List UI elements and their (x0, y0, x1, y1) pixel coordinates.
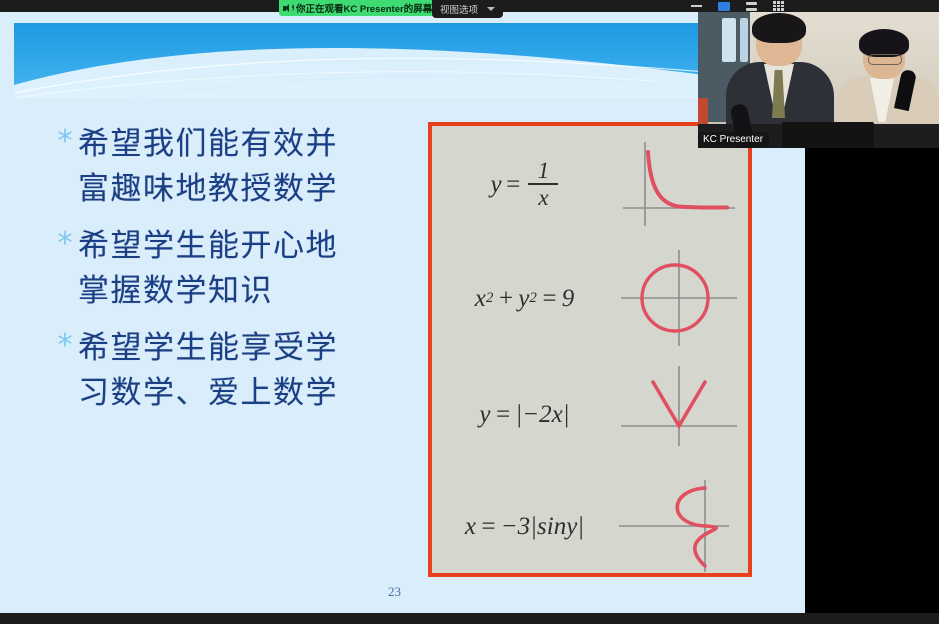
equation-relation: = (480, 514, 497, 539)
equation-exponent: 2 (486, 291, 494, 306)
equation-operator: + (497, 286, 514, 311)
split-view-icon (746, 2, 757, 11)
equation-row: x = −3|siny| (432, 476, 748, 576)
fraction-numerator: 1 (538, 159, 550, 183)
equation-row: y = 1 x (432, 134, 748, 234)
v-shape-graph (617, 364, 742, 464)
equation-lhs: x (465, 514, 476, 539)
equation-relation: = (541, 286, 558, 311)
equation-circle: x2 + y2 = 9 (432, 286, 617, 311)
equation-exponent: 2 (529, 291, 537, 306)
slide-page-number: 23 (388, 584, 401, 600)
equation-term: x (475, 286, 486, 311)
bullet-marker-icon: * (52, 224, 78, 264)
maximize-button[interactable] (718, 2, 730, 11)
chevron-down-icon (487, 7, 495, 11)
math-equations-image: y = 1 x x (428, 122, 752, 577)
equation-y-equals-one-over-x: y = 1 x (432, 159, 617, 209)
equation-row: y = |−2x| (432, 364, 748, 464)
list-item: * 希望我们能有效并 富趣味地教授数学 (52, 122, 412, 212)
video-door-glass (740, 18, 748, 62)
equation-term: y (518, 286, 529, 311)
video-laptop (782, 122, 874, 148)
list-item: * 希望学生能享受学 习数学、爱上数学 (52, 326, 412, 416)
bullet-text: 希望学生能开心地 掌握数学知识 (78, 224, 338, 314)
bullet-line: 习数学、爱上数学 (78, 375, 338, 411)
presenter-one-hair (752, 13, 806, 43)
zoom-meeting-window: 你正在观看KC Presenter的屏幕 视图选项 * 希望我们能有效并 (0, 0, 939, 624)
list-item: * 希望学生能开心地 掌握数学知识 (52, 224, 412, 314)
video-frame (698, 12, 939, 148)
slide-bullet-list: * 希望我们能有效并 富趣味地教授数学 * 希望学生能开心地 掌握数学知识 * … (52, 122, 412, 428)
participant-name-label: KC Presenter (698, 132, 769, 148)
bullet-line: 希望学生能享受学 (78, 330, 338, 366)
view-options-label: 视图选项 (440, 2, 478, 16)
window-background-bottom (0, 613, 939, 624)
speaker-view-button[interactable] (746, 2, 757, 11)
circle-graph (617, 248, 742, 348)
screen-share-banner[interactable]: 你正在观看KC Presenter的屏幕 (279, 0, 438, 16)
banner-swoosh-decoration (14, 23, 805, 98)
equation-rhs: 9 (562, 286, 575, 311)
window-controls (691, 0, 784, 12)
video-door-glass (722, 18, 736, 62)
equation-row: x2 + y2 = 9 (432, 248, 748, 348)
fraction: 1 x (528, 159, 558, 209)
minimize-button[interactable] (691, 5, 702, 7)
bullet-text: 希望学生能享受学 习数学、爱上数学 (78, 326, 338, 416)
video-wall-accent (698, 98, 708, 124)
equation-sine-absolute: x = −3|siny| (432, 514, 617, 539)
bullet-line: 希望学生能开心地 (78, 228, 338, 264)
equation-relation: = (505, 172, 522, 197)
presenter-two-hair (859, 29, 909, 57)
shared-screen-slide: * 希望我们能有效并 富趣味地教授数学 * 希望学生能开心地 掌握数学知识 * … (0, 12, 805, 613)
bullet-marker-icon: * (52, 122, 78, 162)
minimize-icon (691, 5, 702, 7)
hyperbola-graph (617, 134, 742, 234)
equation-lhs: y (479, 402, 490, 427)
equation-lhs: y (491, 172, 502, 197)
screen-share-banner-label: 你正在观看KC Presenter的屏幕 (296, 1, 432, 15)
equation-rhs: |−2x| (515, 402, 569, 427)
grid-view-icon (773, 1, 784, 11)
bullet-text: 希望我们能有效并 富趣味地教授数学 (78, 122, 338, 212)
presenter-video-tile[interactable]: KC Presenter (698, 12, 939, 148)
equation-relation: = (495, 402, 512, 427)
bullet-line: 掌握数学知识 (78, 273, 273, 309)
slide-header-banner (14, 23, 805, 98)
speaker-icon (283, 4, 293, 13)
bullet-marker-icon: * (52, 326, 78, 366)
sine-curve-graph (617, 476, 742, 576)
window-background-right (805, 148, 939, 613)
equation-absolute-value-line: y = |−2x| (432, 402, 617, 427)
fraction-denominator: x (538, 185, 548, 209)
equation-rhs: −3|siny| (501, 514, 584, 539)
presenter-two-glasses (868, 54, 902, 65)
bullet-line: 希望我们能有效并 (78, 126, 338, 162)
maximize-icon (718, 2, 730, 11)
view-options-button[interactable]: 视图选项 (432, 0, 503, 18)
bullet-line: 富趣味地教授数学 (78, 171, 338, 207)
gallery-view-button[interactable] (773, 1, 784, 11)
